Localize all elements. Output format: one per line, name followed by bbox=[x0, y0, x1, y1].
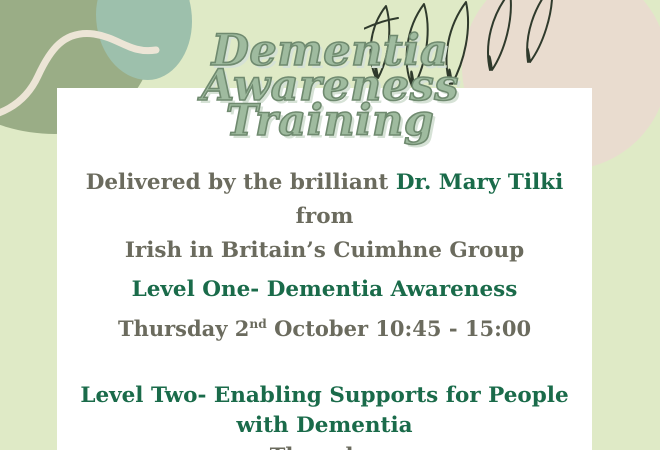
level-one-date-rest: October 10:45 - 15:00 bbox=[267, 316, 531, 341]
level-one-date-number: 2 bbox=[235, 316, 250, 341]
level-one-heading: Level One- Dementia Awareness bbox=[57, 275, 592, 305]
poster-title: Dementia Awareness Training bbox=[0, 34, 660, 139]
level-one-date: Thursday 2nd October 10:45 - 15:00 bbox=[57, 309, 592, 344]
delivered-by-line: Delivered by the brilliant Dr. Mary Tilk… bbox=[57, 166, 592, 268]
level-two-date-partial: Thursday bbox=[57, 441, 592, 450]
level-one-date-ordinal: nd bbox=[249, 317, 266, 331]
poster-content: Dementia Awareness Training Delivered by… bbox=[0, 0, 660, 450]
delivered-organisation: Irish in Britain’s Cuimhne Group bbox=[125, 238, 524, 263]
level-one-day: Thursday bbox=[118, 316, 235, 341]
poster-canvas: Dementia Awareness Training Delivered by… bbox=[0, 0, 660, 450]
level-two-heading: Level Two- Enabling Supports for People … bbox=[57, 381, 592, 441]
delivered-suffix: from bbox=[296, 204, 354, 229]
presenter-name: Dr. Mary Tilki bbox=[396, 170, 563, 195]
delivered-prefix: Delivered by the brilliant bbox=[86, 170, 396, 195]
